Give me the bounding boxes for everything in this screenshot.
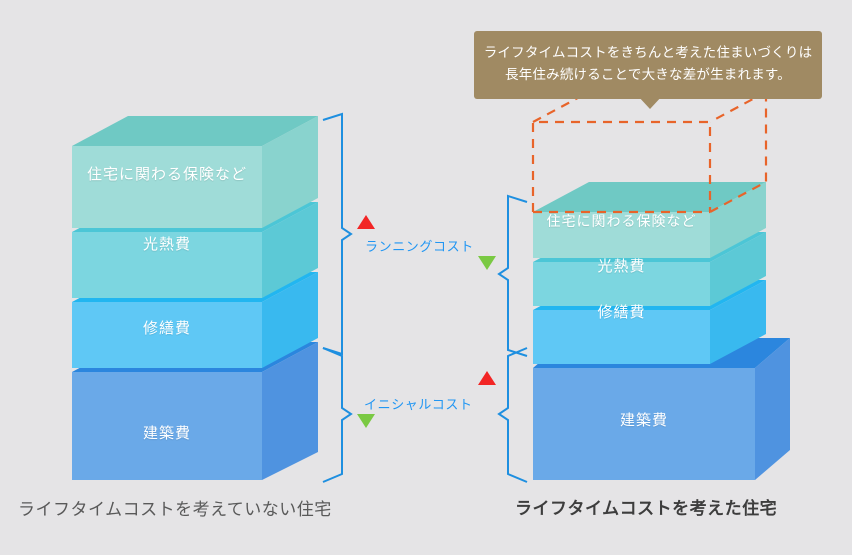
right-label-repair: 修繕費 bbox=[533, 301, 710, 322]
right-stack-caption: ライフタイムコストを考えた住宅 bbox=[515, 494, 777, 519]
diagram-canvas: ライフタイムコストをきちんと考えた住まいづくりは 長年住み続けることで大きな差が… bbox=[0, 0, 852, 555]
tooltip-line-2: 長年住み続けることで大きな差が生まれます。 bbox=[482, 64, 814, 86]
left-stack-caption: ライフタイムコストを考えていない住宅 bbox=[18, 495, 332, 520]
left-label-repair: 修繕費 bbox=[72, 317, 262, 338]
running-cost-label: ランニングコスト bbox=[365, 236, 474, 255]
callout-tooltip: ライフタイムコストをきちんと考えた住まいづくりは 長年住み続けることで大きな差が… bbox=[474, 31, 822, 99]
left-label-insurance: 住宅に関わる保険など bbox=[72, 163, 262, 184]
left-label-construction: 建築費 bbox=[72, 422, 262, 443]
right-initial-cost-bracket bbox=[494, 342, 530, 488]
initial-cost-label: イニシャルコスト bbox=[364, 394, 473, 413]
tooltip-tail-icon bbox=[637, 95, 663, 109]
running-cost-down-arrow-icon bbox=[478, 256, 496, 270]
right-label-construction: 建築費 bbox=[533, 409, 755, 430]
right-label-insurance: 住宅に関わる保険など bbox=[533, 211, 710, 231]
left-initial-cost-bracket bbox=[320, 342, 356, 488]
tooltip-line-1: ライフタイムコストをきちんと考えた住まいづくりは bbox=[482, 42, 814, 64]
left-stack-graphic bbox=[0, 0, 430, 555]
left-running-cost-bracket bbox=[320, 110, 356, 358]
right-running-cost-bracket bbox=[494, 192, 530, 360]
initial-cost-down-arrow-icon bbox=[357, 414, 375, 428]
initial-cost-up-arrow-icon bbox=[478, 371, 496, 385]
right-label-utility: 光熱費 bbox=[533, 255, 710, 276]
left-label-utility: 光熱費 bbox=[72, 233, 262, 254]
running-cost-up-arrow-icon bbox=[357, 215, 375, 229]
